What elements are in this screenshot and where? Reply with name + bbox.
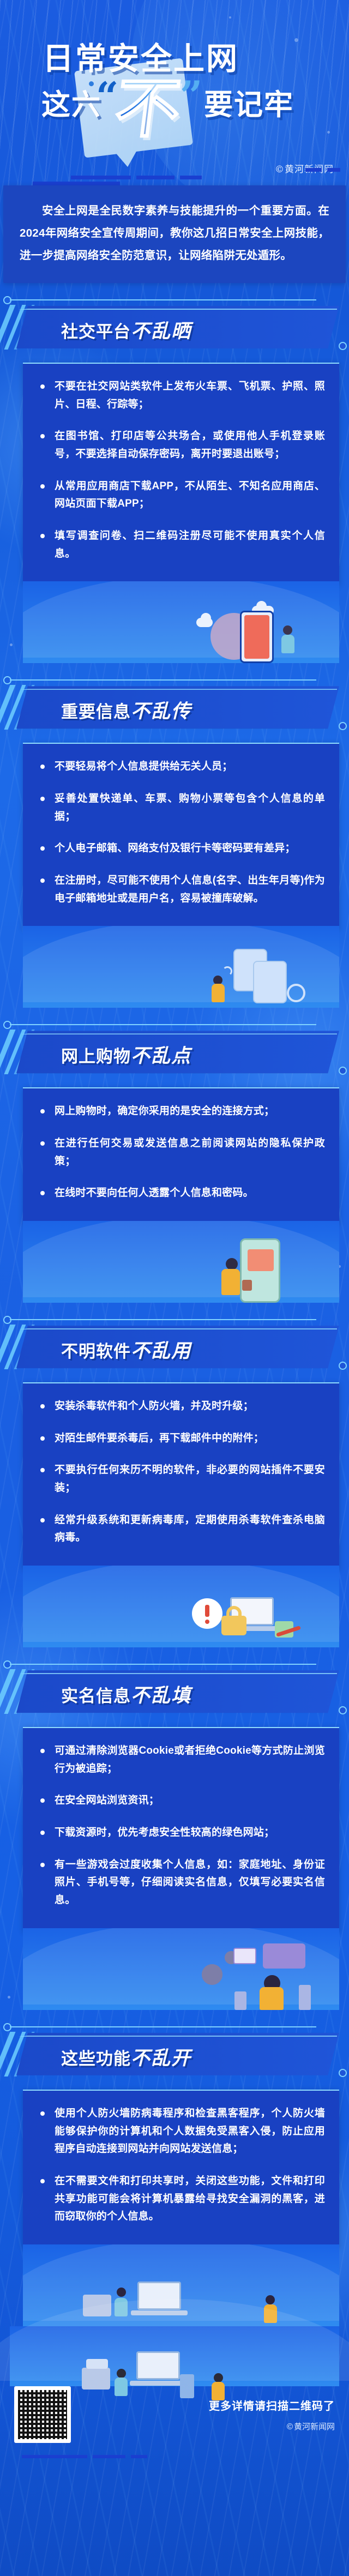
person-head-illustration (117, 2369, 126, 2378)
section-header-4: 不明软件不乱用 (0, 1314, 349, 1378)
banner-accent-line (19, 1033, 337, 1034)
hero-credit: ©黄河新闻网 (275, 161, 334, 175)
section-title-emphasis: 不乱点 (131, 1045, 191, 1067)
quote-open-mark: “ (96, 83, 118, 110)
section-title-prefix: 重要信息 (61, 702, 131, 722)
subtitle-prefix: 这六 (41, 82, 101, 123)
bullet-item: 不要执行任何来历不明的软件，非必要的网站插件不要安装； (36, 1461, 325, 1497)
person-body-illustration (221, 1269, 240, 1295)
banner-accent-line (19, 2036, 337, 2037)
footer: 更多详情请扫描二维码了 ©黄河新闻网 (0, 2326, 349, 2473)
bullet-item: 从常用应用商店下载APP，不从陌生、不知名应用商店、网站页面下载APP； (36, 478, 325, 513)
section-title-emphasis: 不乱晒 (131, 321, 191, 342)
banner-accent-line (19, 309, 337, 310)
section-header-2: 重要信息不乱传 (0, 674, 349, 738)
qr-row: 更多详情请扫描二维码了 ©黄河新闻网 (0, 2386, 349, 2443)
handbag-illustration (242, 1280, 252, 1291)
bullet-item: 不要在社交网站类软件上发布火车票、飞机票、护照、照片、日程、行踪等； (36, 378, 325, 413)
id-card-illustration (253, 961, 287, 1003)
bullet-list: 不要在社交网站类软件上发布火车票、飞机票、护照、照片、日程、行踪等；在图书馆、打… (36, 378, 325, 563)
hero-banner: 日常安全上网 “ 不 ” 这六 要记牢 ©黄河新闻网 (0, 0, 349, 185)
bullet-item: 使用个人防火墙防病毒程序和检查黑客程序，个人防火墙能够保护你的计算机和个人数据免… (36, 2105, 325, 2158)
lock-shackle-icon (226, 1606, 242, 1617)
footer-text-block: 更多详情请扫描二维码了 ©黄河新闻网 (209, 2397, 335, 2432)
bullet-item: 下载资源时，优先考虑安全性较高的绿色网站； (36, 1824, 325, 1842)
section-2: 重要信息不乱传 不要轻易将个人信息提供给无关人员；妥善处置快递单、车票、购物小票… (0, 663, 349, 1008)
section-body-4: 安装杀毒软件和个人防火墙，并及时升级；对陌生邮件要杀毒后，再下载邮件中的附件；不… (23, 1382, 339, 1569)
person-body-illustration (281, 635, 294, 653)
bullet-item: 个人电子邮箱、网络支付及银行卡等密码要有差异； (36, 840, 325, 858)
section-5: 实名信息不乱填 可通过清除浏览器Cookie或者拒绝Cookie等方式防止浏览行… (0, 1647, 349, 2010)
footer-credit: ©黄河新闻网 (209, 2421, 335, 2432)
rail-line-top (10, 1024, 316, 1025)
section-body-5: 可通过清除浏览器Cookie或者拒绝Cookie等方式防止浏览行为被追踪；在安全… (23, 1727, 339, 1931)
rail-knob-right (339, 1067, 347, 1075)
rail-line-top (10, 299, 316, 300)
bullet-item: 妥善处置快递单、车票、购物小票等包含个人信息的单据； (36, 790, 325, 826)
rail-line-top (10, 1319, 316, 1320)
section-title-3: 网上购物不乱点 (61, 1040, 191, 1068)
rail-knob-right (339, 722, 347, 730)
bullet-item: 可通过清除浏览器Cookie或者拒绝Cookie等方式防止浏览行为被追踪； (36, 1742, 325, 1778)
bullet-list: 可通过清除浏览器Cookie或者拒绝Cookie等方式防止浏览行为被追踪；在安全… (36, 1742, 325, 1910)
intro-panel: 安全上网是全民数字素养与技能提升的一个重要方面。在2024年网络安全宣传周期间，… (3, 185, 346, 283)
rail-knob-right (339, 1706, 347, 1714)
footer-bar-decoration (0, 2455, 349, 2466)
person-head-illustration (214, 2373, 223, 2382)
bullet-list: 不要轻易将个人信息提供给无关人员；妥善处置快递单、车票、购物小票等包含个人信息的… (36, 758, 325, 907)
section-3: 网上购物不乱点 网上购物时，确定你采用的是安全的连接方式；在进行任何交易或发送信… (0, 1008, 349, 1303)
person-head-illustration (117, 2288, 126, 2297)
column-illustration (299, 1985, 311, 2010)
person-head-illustration (266, 2295, 275, 2304)
bullet-list: 使用个人防火墙防病毒程序和检查黑客程序，个人防火墙能够保护你的计算机和个人数据免… (36, 2105, 325, 2226)
person-head-illustration (226, 1258, 238, 1270)
section-header-6: 这些功能不乱开 (0, 2021, 349, 2085)
wave-shape (23, 1928, 339, 2010)
rail-knob-right (339, 342, 347, 350)
bullet-item: 在线时不要向任何人透露个人信息和密码。 (36, 1184, 325, 1202)
section-title-prefix: 这些功能 (61, 2049, 131, 2069)
section-title-emphasis: 不乱用 (131, 1340, 191, 1362)
message-bubble-illustration (263, 1943, 305, 1969)
banner-accent-line (19, 689, 337, 690)
section-title-6: 这些功能不乱开 (61, 2043, 191, 2071)
section-1: 社交平台不乱晒 不要在社交网站类软件上发布火车票、飞机票、护照、照片、日程、行踪… (0, 283, 349, 663)
lock-body-icon (221, 1616, 246, 1635)
banner-accent-line (19, 1328, 337, 1329)
phone-screen (244, 615, 269, 659)
bullet-item: 安装杀毒软件和个人防火墙，并及时升级； (36, 1398, 325, 1416)
section-title-5: 实名信息不乱填 (61, 1680, 191, 1708)
intro-paragraph: 安全上网是全民数字素养与技能提升的一个重要方面。在2024年网络安全宣传周期间，… (20, 200, 329, 267)
section-title-prefix: 实名信息 (61, 1687, 131, 1706)
section-title-1: 社交平台不乱晒 (61, 316, 191, 344)
bullet-item: 在注册时，尽可能不使用个人信息(名字、出生年月等)作为电子邮箱地址或是用户名，容… (36, 872, 325, 907)
phone-illustration (240, 611, 274, 663)
section-title-prefix: 不明软件 (61, 1342, 131, 1362)
bullet-item: 在图书馆、打印店等公共场合，或使用他人手机登录账号，不要选择自动保存密码，离开时… (36, 428, 325, 463)
bullet-item: 对陌生邮件要杀毒后，再下载邮件中的附件； (36, 1430, 325, 1448)
bullet-item: 填写调查问卷、扫二维码注册尽可能不使用真实个人信息。 (36, 527, 325, 563)
quote-close-mark: ” (180, 82, 202, 109)
section-body-3: 网上购物时，确定你采用的是安全的连接方式；在进行任何交易或发送信息之前阅读网站的… (23, 1087, 339, 1224)
server-box-illustration (86, 2359, 108, 2369)
section-title-prefix: 网上购物 (61, 1047, 131, 1067)
section-body-1: 不要在社交网站类软件上发布火车票、飞机票、护照、照片、日程、行踪等；在图书馆、打… (23, 363, 339, 585)
person-body-illustration (260, 1987, 284, 2010)
subtitle-suffix: 要记牢 (204, 82, 294, 123)
qr-code-pattern (18, 2390, 67, 2439)
section-title-2: 重要信息不乱传 (61, 696, 191, 724)
section-illustration-4 (23, 1566, 339, 1647)
bullet-item: 有一些游戏会过度收集个人信息，如：家庭地址、身份证照片、手机号等，仔细阅读实名信… (36, 1856, 325, 1910)
section-title-emphasis: 不乱传 (131, 701, 191, 723)
alert-icon (192, 1598, 222, 1629)
bullet-item: 在安全网站浏览资讯； (36, 1792, 325, 1810)
laptop-screen-illustration (136, 2351, 180, 2380)
section-title-prefix: 社交平台 (61, 322, 131, 342)
emphasis-character-bu: 不 (112, 76, 184, 141)
rail-line-top (10, 2026, 316, 2027)
bullet-list: 安装杀毒软件和个人防火墙，并及时升级；对陌生邮件要杀毒后，再下载邮件中的附件；不… (36, 1398, 325, 1547)
qr-code[interactable] (14, 2386, 71, 2443)
bullet-item: 在不需要文件和打印共享时，关闭这些功能，文件和打印共享功能可能会将计算机暴露给寻… (36, 2172, 325, 2226)
wave-shape (23, 1221, 339, 1303)
bullet-item: 不要轻易将个人信息提供给无关人员； (36, 758, 325, 776)
section-header-5: 实名信息不乱填 (0, 1658, 349, 1723)
section-4: 不明软件不乱用 安装杀毒软件和个人防火墙，并及时升级；对陌生邮件要杀毒后，再下载… (0, 1303, 349, 1647)
rail-line-top (10, 679, 316, 681)
product-card-illustration (248, 1249, 274, 1271)
cloud-icon (196, 618, 213, 627)
bullet-item: 经常升级系统和更新病毒库，定期使用杀毒软件查杀电脑病毒。 (36, 1512, 325, 1547)
rail-knob-right (339, 1362, 347, 1370)
bullet-item: 在进行任何交易或发送信息之前阅读网站的隐私保护政策； (36, 1135, 325, 1170)
section-header-1: 社交平台不乱晒 (0, 294, 349, 358)
sections-container: 社交平台不乱晒 不要在社交网站类软件上发布火车票、飞机票、护照、照片、日程、行踪… (0, 283, 349, 2326)
section-body-2: 不要轻易将个人信息提供给无关人员；妥善处置快递单、车票、购物小票等包含个人信息的… (23, 743, 339, 929)
section-body-6: 使用个人防火墙防病毒程序和检查黑客程序，个人防火墙能够保护你的计算机和个人数据免… (23, 2090, 339, 2248)
section-header-3: 网上购物不乱点 (0, 1019, 349, 1083)
rail-knob-right (339, 2069, 347, 2077)
rail-line-top (10, 1664, 316, 1665)
banner-accent-line (19, 1673, 337, 1674)
section-title-emphasis: 不乱填 (131, 1685, 191, 1707)
section-title-4: 不明软件不乱用 (61, 1335, 191, 1363)
person-body-illustration (212, 984, 225, 1002)
section-6: 这些功能不乱开 使用个人防火墙防病毒程序和检查黑客程序，个人防火墙能够保护你的计… (0, 2010, 349, 2326)
section-illustration-1 (23, 581, 339, 663)
bullet-item: 网上购物时，确定你采用的是安全的连接方式； (36, 1103, 325, 1121)
column-illustration (234, 1991, 246, 2010)
envelope-icon (233, 1948, 256, 1964)
laptop-base-illustration (130, 2381, 186, 2386)
section-illustration-3 (23, 1221, 339, 1303)
gear-icon (202, 1964, 222, 1985)
section-illustration-5 (23, 1928, 339, 2010)
scan-more-text: 更多详情请扫描二维码了 (209, 2397, 335, 2413)
section-title-emphasis: 不乱开 (131, 2048, 191, 2069)
section-illustration-2 (23, 926, 339, 1008)
bullet-list: 网上购物时，确定你采用的是安全的连接方式；在进行任何交易或发送信息之前阅读网站的… (36, 1103, 325, 1202)
